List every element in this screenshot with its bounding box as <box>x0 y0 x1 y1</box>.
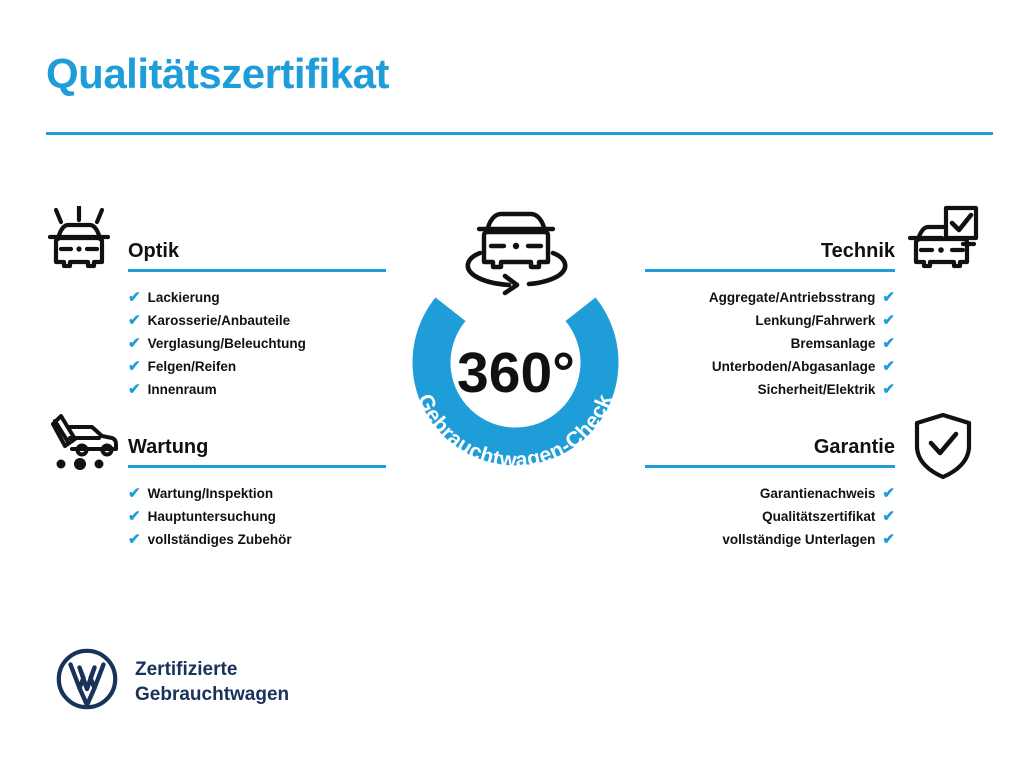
list-item-label: Innenraum <box>148 378 217 401</box>
list-item: Bremsanlage ✔ <box>645 332 895 355</box>
list-item-label: Hauptuntersuchung <box>148 505 276 528</box>
check-icon: ✔ <box>882 286 895 309</box>
badge-value: 360° <box>457 341 575 405</box>
section-title: Technik <box>645 238 895 264</box>
list-item: ✔ Innenraum <box>128 378 386 401</box>
list-item: ✔ Wartung/Inspektion <box>128 482 386 505</box>
section-title: Wartung <box>128 434 386 460</box>
section-divider <box>645 465 895 468</box>
checklist-wartung: ✔ Wartung/Inspektion ✔ Hauptuntersuchung… <box>128 482 386 551</box>
list-item: Sicherheit/Elektrik ✔ <box>645 378 895 401</box>
section-title: Optik <box>128 238 386 264</box>
section-divider <box>645 269 895 272</box>
page-title: Qualitätszertifikat <box>46 52 389 96</box>
list-item: ✔ Lackierung <box>128 286 386 309</box>
list-item-label: Aggregate/Antriebsstrang <box>709 286 876 309</box>
list-item: Qualitätszertifikat ✔ <box>645 505 895 528</box>
check-icon: ✔ <box>882 378 895 401</box>
list-item-label: Sicherheit/Elektrik <box>758 378 876 401</box>
check-icon: ✔ <box>128 309 141 332</box>
check-icon: ✔ <box>882 355 895 378</box>
checklist-technik: Aggregate/Antriebsstrang ✔ Lenkung/Fahrw… <box>645 286 895 401</box>
section-divider <box>128 269 386 272</box>
list-item: ✔ Karosserie/Anbauteile <box>128 309 386 332</box>
check-icon: ✔ <box>882 528 895 551</box>
section-title: Garantie <box>645 434 895 460</box>
list-item: Aggregate/Antriebsstrang ✔ <box>645 286 895 309</box>
list-item: ✔ vollständiges Zubehör <box>128 528 386 551</box>
car-shine-icon <box>44 206 114 277</box>
section-garantie: Garantie Garantienachweis ✔ Qualitätszer… <box>645 434 895 551</box>
section-optik: Optik ✔ Lackierung ✔ Karosserie/Anbautei… <box>128 238 386 401</box>
list-item-label: Lenkung/Fahrwerk <box>755 309 875 332</box>
list-item-label: Qualitätszertifikat <box>762 505 875 528</box>
check-icon: ✔ <box>128 505 141 528</box>
section-wartung: Wartung ✔ Wartung/Inspektion ✔ Hauptunte… <box>128 434 386 551</box>
list-item: Garantienachweis ✔ <box>645 482 895 505</box>
section-technik: Technik Aggregate/Antriebsstrang ✔ Lenku… <box>645 238 895 401</box>
checklist-garantie: Garantienachweis ✔ Qualitätszertifikat ✔… <box>645 482 895 551</box>
list-item: vollständige Unterlagen ✔ <box>645 528 895 551</box>
title-divider <box>46 132 993 135</box>
section-header-garantie: Garantie <box>645 434 895 468</box>
list-item: ✔ Felgen/Reifen <box>128 355 386 378</box>
footer-brand: Zertifizierte Gebrauchtwagen <box>56 648 289 715</box>
list-item-label: Verglasung/Beleuchtung <box>148 332 306 355</box>
footer-brand-line1: Zertifizierte <box>135 657 289 682</box>
list-item-label: Unterboden/Abgasanlage <box>712 355 876 378</box>
list-item-label: vollständiges Zubehör <box>148 528 292 551</box>
badge-360-gebrauchtwagen-check: 360° Gebrauchtwagen-Check <box>383 196 648 488</box>
list-item: ✔ Verglasung/Beleuchtung <box>128 332 386 355</box>
certificate-page: Qualitätszertifikat <box>0 0 1024 768</box>
check-icon: ✔ <box>882 482 895 505</box>
check-icon: ✔ <box>882 332 895 355</box>
car-rotate-360-icon <box>468 214 565 293</box>
list-item-label: vollständige Unterlagen <box>722 528 875 551</box>
check-icon: ✔ <box>128 332 141 355</box>
check-icon: ✔ <box>882 309 895 332</box>
check-icon: ✔ <box>128 528 141 551</box>
check-icon: ✔ <box>128 286 141 309</box>
section-header-wartung: Wartung <box>128 434 386 468</box>
checklist-optik: ✔ Lackierung ✔ Karosserie/Anbauteile ✔ V… <box>128 286 386 401</box>
footer-brand-line2: Gebrauchtwagen <box>135 682 289 707</box>
section-header-technik: Technik <box>645 238 895 272</box>
car-checkbox-icon <box>908 204 980 277</box>
list-item-label: Karosserie/Anbauteile <box>148 309 291 332</box>
list-item-label: Garantienachweis <box>760 482 876 505</box>
list-item-label: Lackierung <box>148 286 220 309</box>
check-icon: ✔ <box>128 355 141 378</box>
volkswagen-logo-icon <box>56 648 118 715</box>
list-item: ✔ Hauptuntersuchung <box>128 505 386 528</box>
footer-brand-text: Zertifizierte Gebrauchtwagen <box>135 657 289 707</box>
section-header-optik: Optik <box>128 238 386 272</box>
list-item-label: Wartung/Inspektion <box>148 482 274 505</box>
pencil-car-icon <box>44 414 120 477</box>
list-item-label: Felgen/Reifen <box>148 355 237 378</box>
list-item-label: Bremsanlage <box>791 332 876 355</box>
check-icon: ✔ <box>128 482 141 505</box>
list-item: Unterboden/Abgasanlage ✔ <box>645 355 895 378</box>
shield-check-icon <box>912 412 974 485</box>
check-icon: ✔ <box>882 505 895 528</box>
check-icon: ✔ <box>128 378 141 401</box>
section-divider <box>128 465 386 468</box>
list-item: Lenkung/Fahrwerk ✔ <box>645 309 895 332</box>
